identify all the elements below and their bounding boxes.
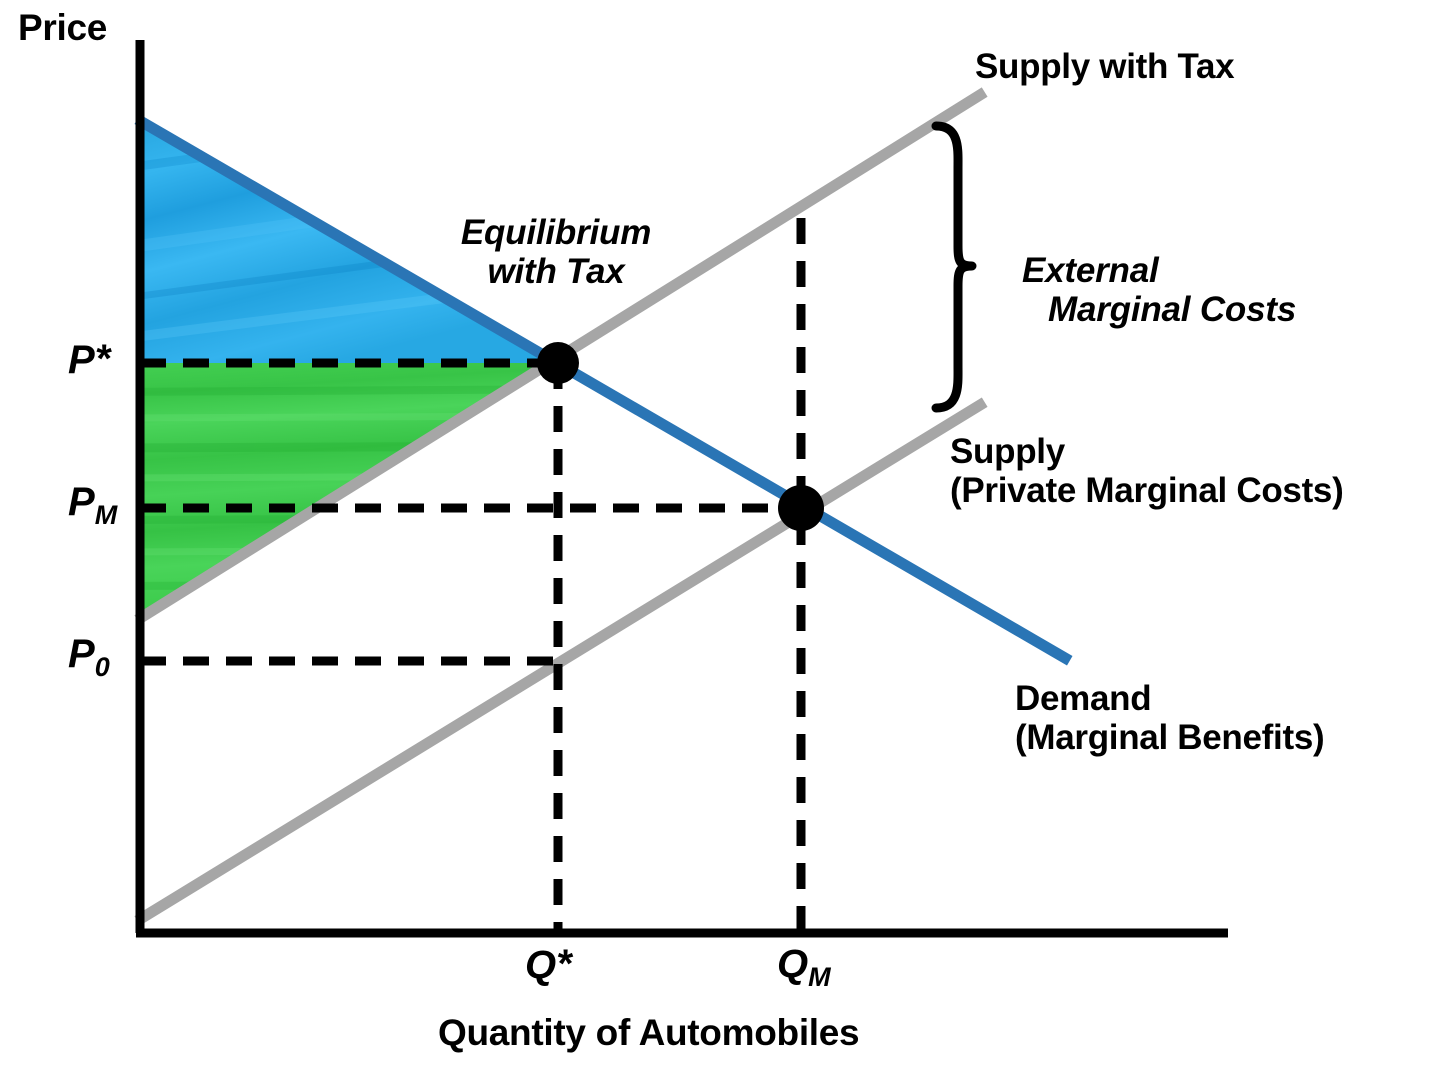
y-tick-p-star-superscript: * bbox=[95, 337, 111, 381]
supply-private-label-line2: (Private Marginal Costs) bbox=[950, 471, 1343, 510]
x-tick-q-m-base: Q bbox=[777, 942, 808, 986]
y-tick-p-star-base: P bbox=[68, 338, 95, 382]
external-marginal-costs-line2: Marginal Costs bbox=[1022, 290, 1296, 329]
equilibrium-label-line2: with Tax bbox=[436, 252, 676, 291]
y-tick-p-zero-subscript: 0 bbox=[95, 652, 110, 682]
region-producer-surplus bbox=[110, 363, 620, 617]
external-marginal-costs-label: External Marginal Costs bbox=[1022, 251, 1296, 329]
external-marginal-costs-line1: External bbox=[1022, 251, 1159, 290]
demand-label: Demand (Marginal Benefits) bbox=[1015, 679, 1324, 757]
y-axis-title: Price bbox=[18, 7, 107, 48]
x-tick-q-m: QM bbox=[777, 942, 831, 992]
equilibrium-with-tax-label: Equilibrium with Tax bbox=[436, 213, 676, 291]
y-tick-p-zero-base: P bbox=[68, 632, 95, 676]
demand-label-line2: (Marginal Benefits) bbox=[1015, 718, 1324, 757]
equilibrium-with-tax-dot bbox=[537, 342, 579, 384]
y-tick-p-m: PM bbox=[68, 480, 117, 530]
chart-canvas bbox=[0, 0, 1440, 1078]
x-tick-q-star-base: Q bbox=[525, 943, 556, 987]
x-tick-q-star-superscript: * bbox=[556, 942, 572, 986]
supply-with-tax-label: Supply with Tax bbox=[975, 47, 1234, 86]
y-tick-p-zero: P0 bbox=[68, 632, 110, 682]
x-tick-q-m-subscript: M bbox=[808, 962, 831, 992]
economics-externality-diagram: Price Quantity of Automobiles P* PM P0 Q… bbox=[0, 0, 1440, 1078]
external-marginal-costs-brace bbox=[936, 126, 972, 408]
x-tick-q-star: Q* bbox=[525, 942, 572, 988]
x-axis-title: Quantity of Automobiles bbox=[438, 1012, 859, 1053]
supply-private-label-line1: Supply bbox=[950, 432, 1343, 471]
y-tick-p-star: P* bbox=[68, 337, 110, 383]
y-tick-p-m-base: P bbox=[68, 480, 95, 524]
y-tick-p-m-subscript: M bbox=[95, 500, 118, 530]
market-equilibrium-dot bbox=[778, 485, 824, 531]
supply-private-label: Supply (Private Marginal Costs) bbox=[950, 432, 1343, 510]
demand-label-line1: Demand bbox=[1015, 679, 1324, 718]
equilibrium-label-line1: Equilibrium bbox=[436, 213, 676, 252]
